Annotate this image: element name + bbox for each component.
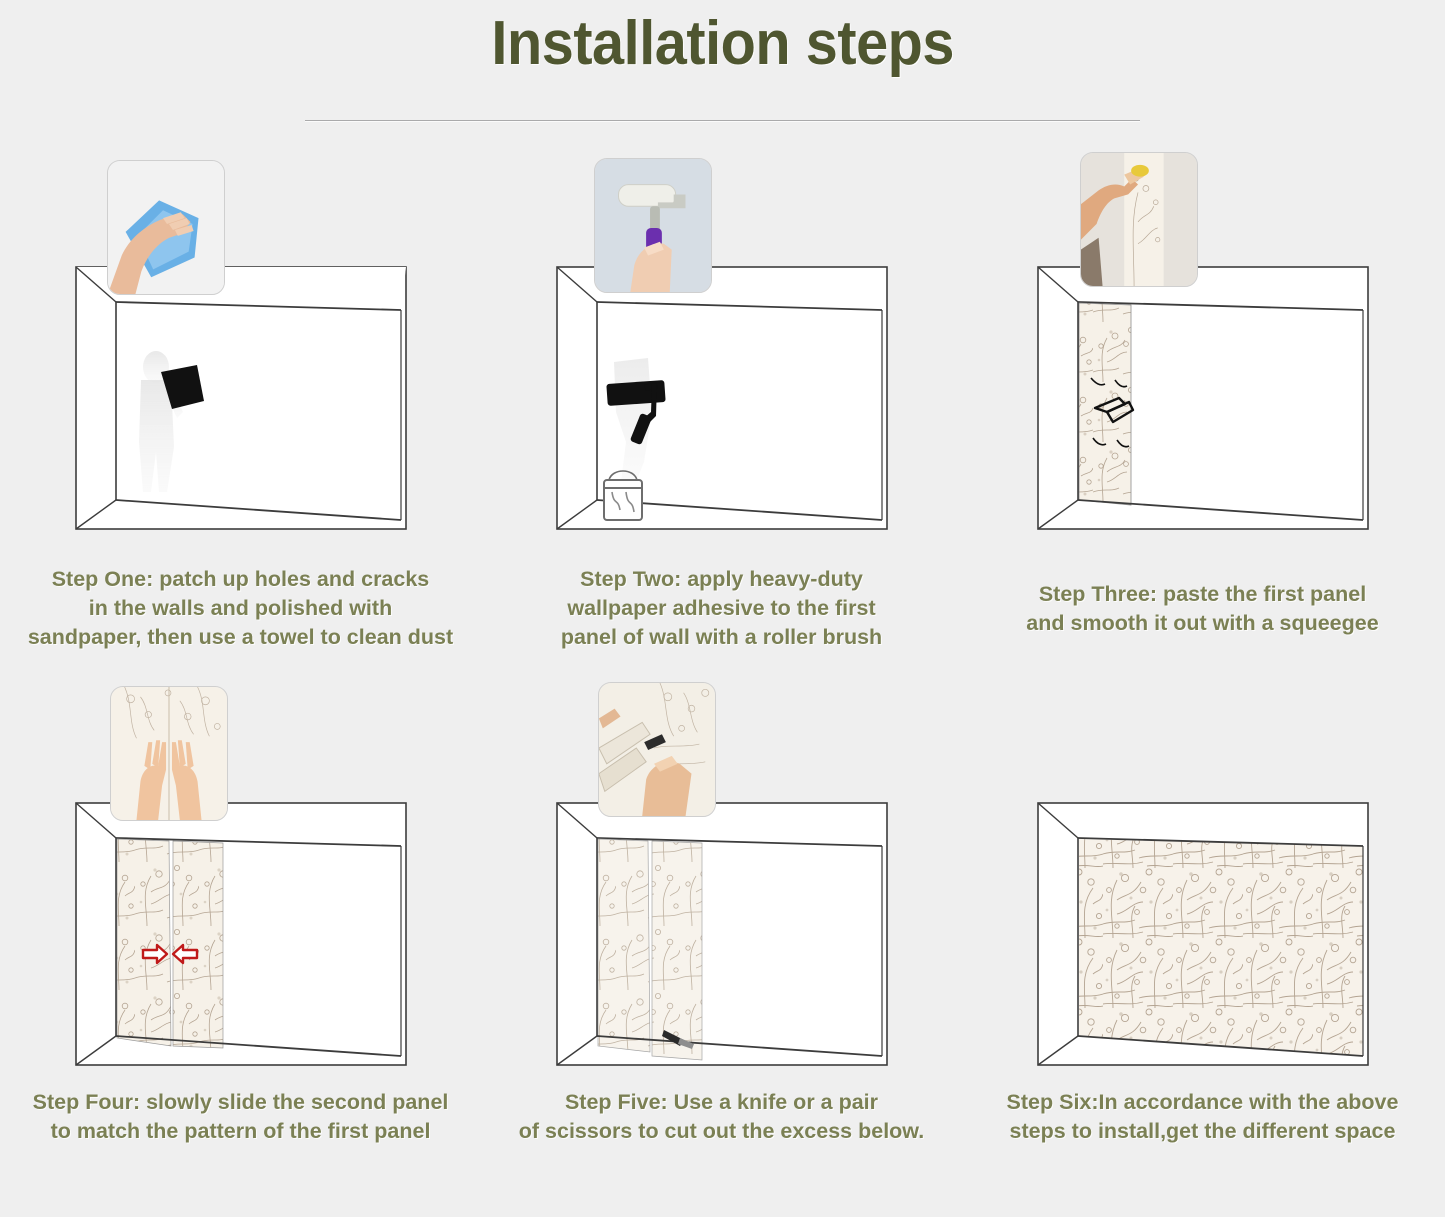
page-title: Installation steps	[491, 8, 954, 79]
room-diagram-four	[71, 798, 411, 1070]
inset-photo-two	[594, 158, 712, 293]
caption-line: Step Five: Use a knife or a pair	[481, 1088, 962, 1117]
caption-line: Step Four: slowly slide the second panel	[0, 1088, 481, 1117]
step-card-five: Step Five: Use a knife or a pair of scis…	[481, 680, 962, 1210]
step-caption-five: Step Five: Use a knife or a pair of scis…	[481, 1088, 962, 1146]
caption-line: in the walls and polished with	[0, 594, 481, 623]
inset-photo-five	[598, 682, 716, 817]
step-card-six: Step Six:In accordance with the above st…	[962, 680, 1443, 1210]
caption-line: Step Two: apply heavy-duty	[481, 565, 962, 594]
page-header: Installation steps	[0, 0, 1445, 79]
inset-photo-three	[1080, 152, 1198, 287]
caption-line: sandpaper, then use a towel to clean dus…	[0, 623, 481, 652]
wallpaper-panel-second	[173, 841, 223, 1048]
wallpaper-panel-first	[598, 839, 650, 1052]
wallpaper-panel-first	[117, 839, 171, 1046]
step-card-three: Step Three: paste the first panel and sm…	[962, 150, 1443, 680]
room-diagram-three	[1033, 262, 1373, 534]
wallpaper-panel-second-excess	[652, 841, 702, 1060]
step-caption-one: Step One: patch up holes and cracks in t…	[0, 565, 481, 652]
steps-grid: Step One: patch up holes and cracks in t…	[0, 150, 1445, 1210]
caption-line: wallpaper adhesive to the first	[481, 594, 962, 623]
inset-photo-one	[107, 160, 225, 295]
room-diagram-six	[1033, 798, 1373, 1070]
caption-line: Step One: patch up holes and cracks	[0, 565, 481, 594]
step-caption-four: Step Four: slowly slide the second panel…	[0, 1088, 481, 1146]
step-caption-three: Step Three: paste the first panel and sm…	[962, 580, 1443, 638]
step-card-two: Step Two: apply heavy-duty wallpaper adh…	[481, 150, 962, 680]
caption-line: of scissors to cut out the excess below.	[481, 1117, 962, 1146]
step-card-one: Step One: patch up holes and cracks in t…	[0, 150, 481, 680]
step-caption-two: Step Two: apply heavy-duty wallpaper adh…	[481, 565, 962, 652]
caption-line: panel of wall with a roller brush	[481, 623, 962, 652]
caption-line: steps to install,get the different space	[962, 1117, 1443, 1146]
room-diagram-one	[71, 262, 411, 534]
room-diagram-two	[552, 262, 892, 534]
wallpaper-full-wall	[1079, 839, 1363, 1056]
inset-photo-four	[110, 686, 228, 821]
caption-line: and smooth it out with a squeegee	[962, 609, 1443, 638]
room-diagram-five	[552, 798, 892, 1070]
step-card-four: Step Four: slowly slide the second panel…	[0, 680, 481, 1210]
caption-line: Step Three: paste the first panel	[962, 580, 1443, 609]
caption-line: to match the pattern of the first panel	[0, 1117, 481, 1146]
caption-line: Step Six:In accordance with the above	[962, 1088, 1443, 1117]
title-divider	[305, 120, 1140, 121]
step-caption-six: Step Six:In accordance with the above st…	[962, 1088, 1443, 1146]
